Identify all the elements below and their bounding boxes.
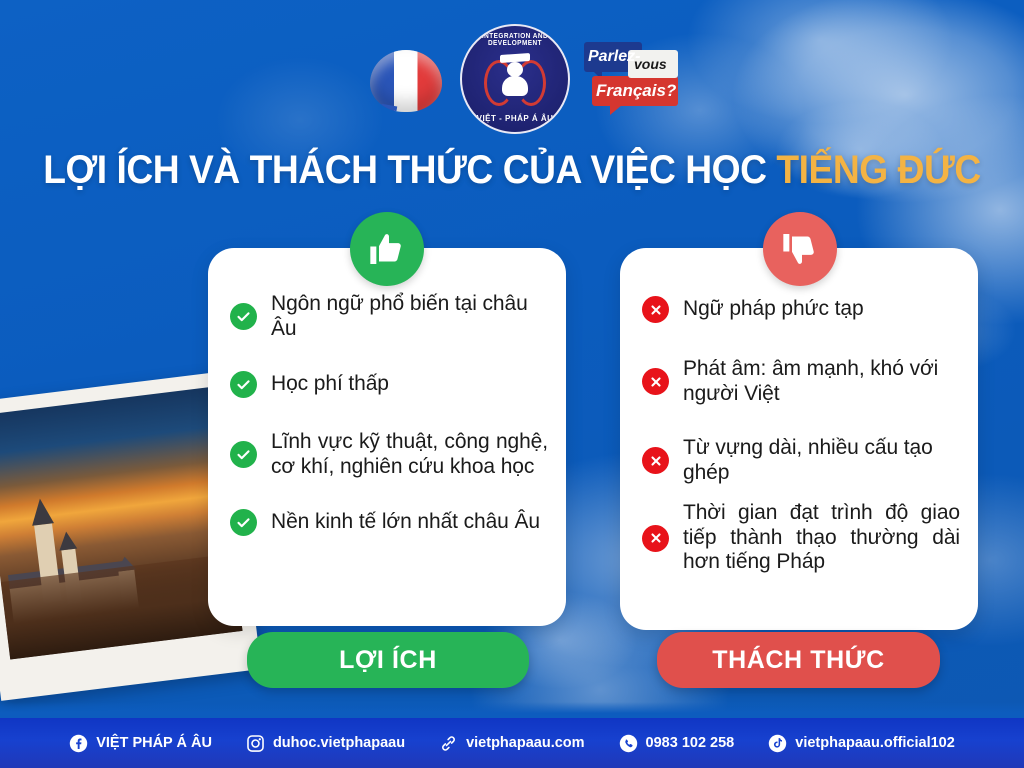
footer-item-label: VIỆT PHÁP Á ÂU bbox=[96, 735, 212, 751]
footer-item-instagram[interactable]: duhoc.vietphapaau bbox=[246, 734, 405, 753]
list-item: Ngữ pháp phức tạp bbox=[642, 296, 960, 323]
parlez-line-1: Parlez- bbox=[588, 48, 640, 66]
list-item-label: Lĩnh vực kỹ thuật, công nghệ, cơ khí, ng… bbox=[271, 430, 548, 479]
challenges-button[interactable]: THÁCH THỨC bbox=[657, 632, 940, 688]
cross-icon bbox=[642, 296, 669, 323]
check-icon bbox=[230, 441, 257, 468]
page-title-accent: TIẾNG ĐỨC bbox=[776, 148, 980, 192]
logo-ring-top-text: INTEGRATION AND DEVELOPMENT bbox=[466, 33, 564, 47]
list-item: Nền kinh tế lớn nhất châu Âu bbox=[230, 509, 548, 536]
facebook-icon bbox=[69, 734, 88, 753]
list-item-label: Nền kinh tế lớn nhất châu Âu bbox=[271, 510, 540, 535]
link-icon bbox=[439, 734, 458, 753]
footer-item-label: vietphapaau.com bbox=[466, 735, 584, 751]
french-flag-speech-bubble-icon bbox=[370, 50, 442, 112]
parlez-vous-francais-graphic: Parlez- vous Français? bbox=[584, 40, 680, 114]
list-item: Lĩnh vực kỹ thuật, công nghệ, cơ khí, ng… bbox=[230, 430, 548, 479]
thumbs-down-icon bbox=[780, 229, 820, 269]
list-item: Ngôn ngữ phổ biến tại châu Âu bbox=[230, 292, 548, 341]
footer-item-label: duhoc.vietphapaau bbox=[273, 735, 405, 751]
list-item-label: Thời gian đạt trình độ giao tiếp thành t… bbox=[683, 501, 960, 575]
list-item: Học phí thấp bbox=[230, 371, 548, 398]
footer-item-tiktok[interactable]: vietphapaau.official102 bbox=[768, 734, 955, 753]
cross-icon bbox=[642, 525, 669, 552]
phone-icon bbox=[619, 734, 638, 753]
logo-crest-icon bbox=[486, 52, 544, 104]
castle-photo-image bbox=[0, 387, 243, 660]
check-icon bbox=[230, 509, 257, 536]
logo-ring-bottom-text: VIỆT - PHÁP Á ÂU bbox=[462, 114, 568, 123]
infographic-poster: INTEGRATION AND DEVELOPMENT VIỆT - PHÁP … bbox=[0, 0, 1024, 768]
cross-icon bbox=[642, 447, 669, 474]
tiktok-icon bbox=[768, 734, 787, 753]
vietphapaau-logo: INTEGRATION AND DEVELOPMENT VIỆT - PHÁP … bbox=[460, 24, 570, 134]
page-title-main: LỢI ÍCH VÀ THÁCH THỨC CỦA VIỆC HỌC bbox=[43, 148, 776, 192]
challenges-card: Ngữ pháp phức tạp Phát âm: âm mạnh, khó … bbox=[620, 248, 978, 630]
list-item-label: Ngữ pháp phức tạp bbox=[683, 297, 864, 322]
footer-bar: VIỆT PHÁP Á ÂU duhoc.vietphapaau vietpha… bbox=[0, 718, 1024, 768]
footer-item-phone[interactable]: 0983 102 258 bbox=[619, 734, 735, 753]
list-item-label: Ngôn ngữ phổ biến tại châu Âu bbox=[271, 292, 548, 341]
list-item: Phát âm: âm mạnh, khó với người Việt bbox=[642, 357, 960, 406]
list-item: Từ vựng dài, nhiều cấu tạo ghép bbox=[642, 436, 960, 485]
page-title: LỢI ÍCH VÀ THÁCH THỨC CỦA VIỆC HỌC TIẾNG… bbox=[36, 148, 988, 193]
footer-item-website[interactable]: vietphapaau.com bbox=[439, 734, 584, 753]
thumbs-up-badge bbox=[350, 212, 424, 286]
benefits-list: Ngôn ngữ phổ biến tại châu Âu Học phí th… bbox=[230, 292, 548, 536]
instagram-icon bbox=[246, 734, 265, 753]
benefits-button[interactable]: LỢI ÍCH bbox=[247, 632, 529, 688]
list-item-label: Từ vựng dài, nhiều cấu tạo ghép bbox=[683, 436, 960, 485]
thumbs-up-icon bbox=[367, 229, 407, 269]
list-item-label: Học phí thấp bbox=[271, 372, 389, 397]
footer-item-facebook[interactable]: VIỆT PHÁP Á ÂU bbox=[69, 734, 212, 753]
footer-item-label: vietphapaau.official102 bbox=[795, 735, 955, 751]
list-item: Thời gian đạt trình độ giao tiếp thành t… bbox=[642, 501, 960, 575]
list-item-label: Phát âm: âm mạnh, khó với người Việt bbox=[683, 357, 960, 406]
cross-icon bbox=[642, 368, 669, 395]
parlez-line-3: Français? bbox=[596, 81, 676, 101]
challenges-list: Ngữ pháp phức tạp Phát âm: âm mạnh, khó … bbox=[642, 296, 960, 575]
parlez-line-2: vous bbox=[634, 56, 667, 72]
thumbs-down-badge bbox=[763, 212, 837, 286]
check-icon bbox=[230, 371, 257, 398]
benefits-card: Ngôn ngữ phổ biến tại châu Âu Học phí th… bbox=[208, 248, 566, 626]
footer-gradient-strip bbox=[0, 702, 1024, 718]
header-logo-row: INTEGRATION AND DEVELOPMENT VIỆT - PHÁP … bbox=[362, 22, 682, 132]
footer-item-label: 0983 102 258 bbox=[646, 735, 735, 751]
check-icon bbox=[230, 303, 257, 330]
